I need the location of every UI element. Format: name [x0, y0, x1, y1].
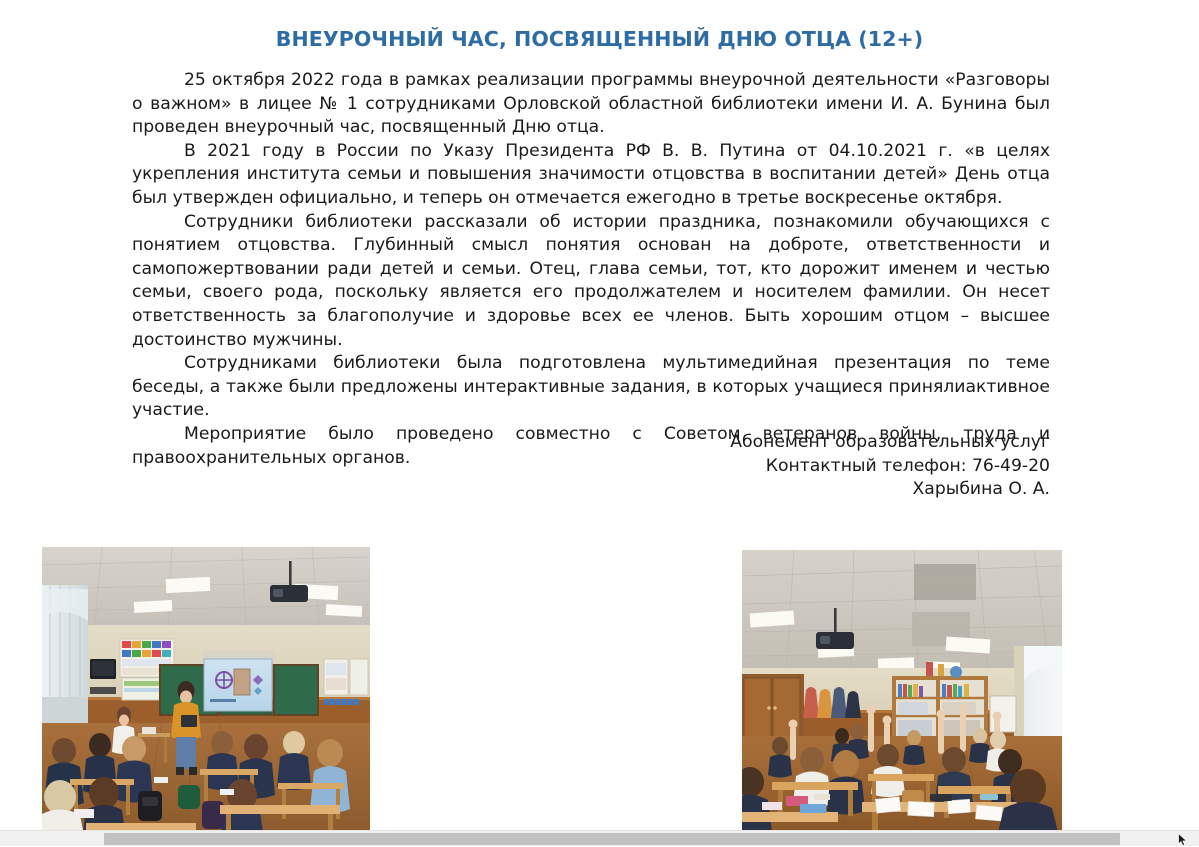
paragraph-2: В 2021 году в России по Указу Президента…: [132, 140, 1050, 211]
students-raising-hands-image: [742, 550, 1062, 832]
scrollbar-thumb[interactable]: [104, 833, 1120, 845]
mouse-cursor-icon: [1178, 833, 1188, 847]
signature-line-phone: Контактный телефон: 76-49-20: [132, 455, 1050, 479]
signature-block: Абонемент образовательных услуг Контактн…: [132, 431, 1050, 502]
signature-line-author: Харыбина О. А.: [132, 478, 1050, 502]
page-title: ВНЕУРОЧНЫЙ ЧАС, ПОСВЯЩЕННЫЙ ДНЮ ОТЦА (12…: [0, 27, 1199, 51]
students-raising-hands-photo: [742, 550, 1062, 832]
horizontal-scrollbar[interactable]: [0, 830, 1199, 846]
classroom-presentation-photo: [42, 547, 370, 832]
paragraph-3: Сотрудники библиотеки рассказали об исто…: [132, 211, 1050, 353]
classroom-presentation-image: [42, 547, 370, 832]
paragraph-1: 25 октября 2022 года в рамках реализации…: [132, 69, 1050, 140]
paragraph-4: Сотрудниками библиотеки была подготовлен…: [132, 352, 1050, 423]
signature-line-department: Абонемент образовательных услуг: [132, 431, 1050, 455]
article-body: 25 октября 2022 года в рамках реализации…: [132, 69, 1050, 470]
document-page: ВНЕУРОЧНЫЙ ЧАС, ПОСВЯЩЕННЫЙ ДНЮ ОТЦА (12…: [0, 0, 1199, 830]
